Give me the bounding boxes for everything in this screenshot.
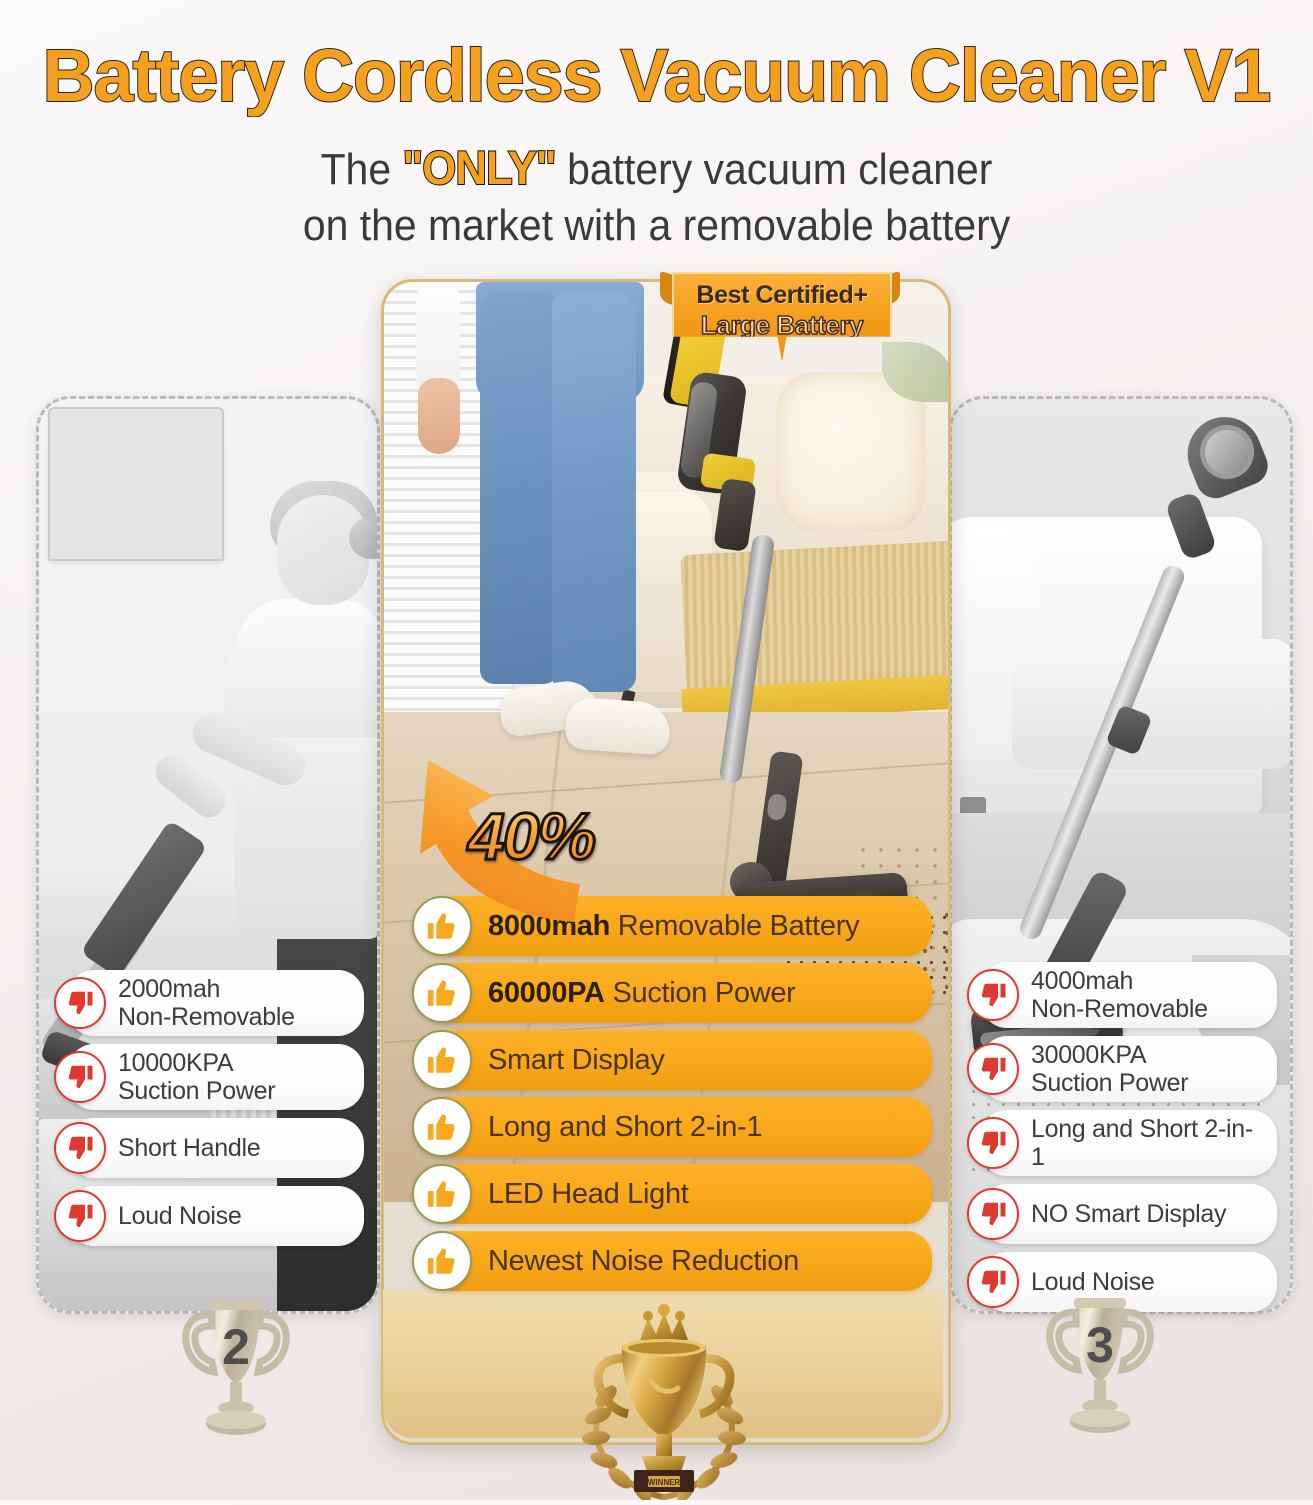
feature-line-2: Suction Power <box>118 1077 275 1105</box>
feature-text: Long and Short 2-in-1 <box>488 1111 762 1143</box>
feature-line-2: Non-Removable <box>1031 995 1208 1023</box>
feature-row: 10000KPASuction Power <box>54 1044 364 1110</box>
feature-row: Short Handle <box>54 1118 364 1178</box>
thumbs-down-icon <box>967 1256 1019 1308</box>
feature-row: Smart Display <box>412 1030 932 1090</box>
feature-text: Loud Noise <box>118 1202 241 1230</box>
feature-rest: Suction Power <box>605 977 796 1009</box>
gold-trophy-icon: WINNER <box>556 1300 772 1500</box>
feature-line-1: 2000mah <box>118 975 220 1003</box>
feature-text: LED Head Light <box>488 1178 689 1210</box>
feature-rest: Newest Noise Reduction <box>488 1245 799 1277</box>
feature-bold: 60000PA <box>488 977 605 1009</box>
thumbs-down-icon <box>54 1051 106 1103</box>
trophy-rank-number: 2 <box>222 1319 250 1375</box>
feature-pill: 30000KPASuction Power <box>981 1036 1277 1102</box>
feature-line-1: Long and Short 2-in-1 <box>1031 1115 1253 1171</box>
feature-pill: 60000PA Suction Power <box>428 963 932 1023</box>
feature-pill: Long and Short 2-in-1 <box>428 1097 932 1157</box>
page-subtitle: The "ONLY" battery vacuum cleaner on the… <box>46 140 1267 254</box>
feature-text: 60000PA Suction Power <box>488 977 796 1009</box>
feature-text: 30000KPASuction Power <box>1031 1041 1188 1097</box>
feature-line-1: 10000KPA <box>118 1049 233 1077</box>
feature-text: Short Handle <box>118 1134 260 1162</box>
feature-line-1: 30000KPA <box>1031 1041 1146 1069</box>
badge-line-1: Best Certified+ <box>674 280 890 310</box>
thumbs-down-icon <box>967 1188 1019 1240</box>
feature-line-1: 4000mah <box>1031 967 1133 995</box>
page-title: Battery Cordless Vacuum Cleaner V1 <box>20 36 1294 116</box>
feature-row: Loud Noise <box>54 1186 364 1246</box>
improvement-callout: 40% <box>398 726 608 926</box>
subtitle-post: battery vacuum cleaner <box>556 145 993 194</box>
subtitle-pre: The <box>321 145 403 194</box>
feature-line-1: NO Smart Display <box>1031 1200 1226 1228</box>
feature-row: Long and Short 2-in-1 <box>967 1110 1277 1176</box>
thumbs-up-icon <box>412 963 472 1023</box>
trophy-rank-number: 3 <box>1086 1317 1114 1373</box>
bronze-trophy-icon: 3 <box>1032 1284 1168 1442</box>
feature-text: Newest Noise Reduction <box>488 1245 799 1277</box>
badge-line-2: Large Battery <box>674 310 890 340</box>
feature-rest: LED Head Light <box>488 1178 689 1210</box>
feature-rest: Smart Display <box>488 1044 665 1076</box>
winner-feature-list: 8000mah Removable Battery 60000PA Suctio… <box>412 896 932 1298</box>
feature-text: 4000mahNon-Removable <box>1031 967 1208 1023</box>
feature-row: Newest Noise Reduction <box>412 1231 932 1291</box>
competitor-2-feature-list: 2000mahNon-Removable 10000KPASuction Pow… <box>54 970 364 1254</box>
thumbs-down-icon <box>54 1190 106 1242</box>
trophy-plaque-label: WINNER <box>648 1478 681 1487</box>
thumbs-down-icon <box>967 1043 1019 1095</box>
feature-text: Long and Short 2-in-1 <box>1031 1115 1263 1171</box>
feature-row: 60000PA Suction Power <box>412 963 932 1023</box>
feature-row: 4000mahNon-Removable <box>967 962 1277 1028</box>
feature-line-2: Non-Removable <box>118 1003 295 1031</box>
feature-pill: Loud Noise <box>68 1186 364 1246</box>
thumbs-up-icon <box>412 1030 472 1090</box>
subtitle-line2: on the market with a removable battery <box>46 198 1267 254</box>
improvement-percent: 40% <box>468 798 594 874</box>
thumbs-up-icon <box>412 1164 472 1224</box>
feature-pill: Smart Display <box>428 1030 932 1090</box>
competitor-3-feature-list: 4000mahNon-Removable 30000KPASuction Pow… <box>967 962 1277 1320</box>
feature-line-1: Short Handle <box>118 1134 260 1162</box>
thumbs-down-icon <box>54 1122 106 1174</box>
feature-pill: Short Handle <box>68 1118 364 1178</box>
feature-row: Long and Short 2-in-1 <box>412 1097 932 1157</box>
feature-row: NO Smart Display <box>967 1184 1277 1244</box>
feature-pill: Newest Noise Reduction <box>428 1231 932 1291</box>
feature-pill: 4000mahNon-Removable <box>981 962 1277 1028</box>
feature-row: 30000KPASuction Power <box>967 1036 1277 1102</box>
feature-text: NO Smart Display <box>1031 1200 1226 1228</box>
feature-pill: NO Smart Display <box>981 1184 1277 1244</box>
feature-text: Smart Display <box>488 1044 665 1076</box>
feature-pill: 2000mahNon-Removable <box>68 970 364 1036</box>
feature-rest: Long and Short 2-in-1 <box>488 1111 762 1143</box>
feature-line-2: Suction Power <box>1031 1069 1188 1097</box>
silver-trophy-icon: 2 <box>168 1286 304 1444</box>
feature-pill: Long and Short 2-in-1 <box>981 1110 1277 1176</box>
feature-line-1: Loud Noise <box>118 1202 241 1230</box>
thumbs-up-icon <box>412 1231 472 1291</box>
thumbs-down-icon <box>967 1117 1019 1169</box>
subtitle-highlight-only: "ONLY" <box>402 141 555 194</box>
thumbs-down-icon <box>967 969 1019 1021</box>
feature-rest: Removable Battery <box>610 910 859 942</box>
thumbs-down-icon <box>54 977 106 1029</box>
feature-text: 10000KPASuction Power <box>118 1049 275 1105</box>
wall-frame <box>48 407 224 561</box>
header: Battery Cordless Vacuum Cleaner V1 The "… <box>0 0 1313 268</box>
thumbs-up-icon <box>412 1097 472 1157</box>
feature-pill: LED Head Light <box>428 1164 932 1224</box>
feature-row: LED Head Light <box>412 1164 932 1224</box>
feature-pill: 10000KPASuction Power <box>68 1044 364 1110</box>
feature-row: 2000mahNon-Removable <box>54 970 364 1036</box>
feature-text: 2000mahNon-Removable <box>118 975 295 1031</box>
